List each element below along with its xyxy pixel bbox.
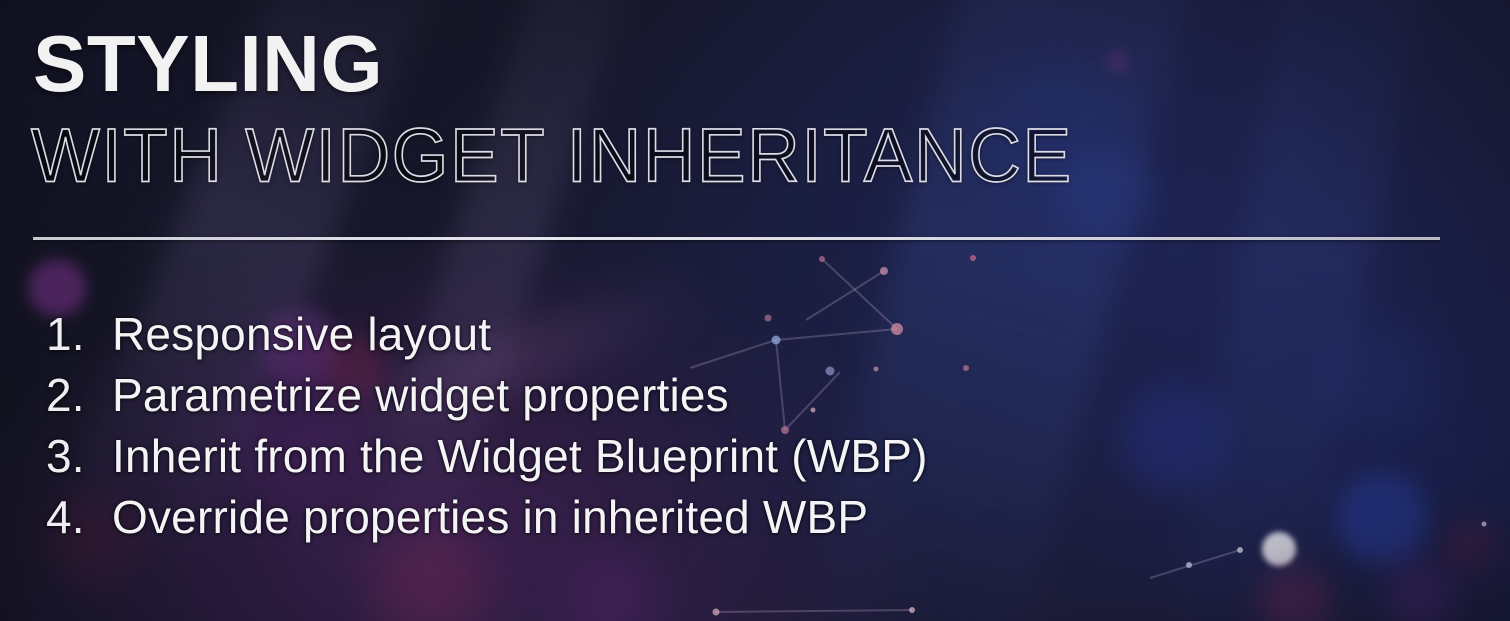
list-item: 3.Inherit from the Widget Blueprint (WBP… xyxy=(46,429,928,490)
agenda-list: 1.Responsive layout2.Parametrize widget … xyxy=(46,307,928,551)
list-item-number: 1. xyxy=(46,307,112,361)
list-item: 1.Responsive layout xyxy=(46,307,928,368)
list-item-number: 2. xyxy=(46,368,112,422)
list-item-label: Override properties in inherited WBP xyxy=(112,490,868,544)
slide-content: STYLING WITH WIDGET INHERITANCE 1.Respon… xyxy=(0,0,1510,621)
list-item-number: 3. xyxy=(46,429,112,483)
list-item-label: Responsive layout xyxy=(112,307,491,361)
title-divider xyxy=(33,237,1440,240)
list-item: 4.Override properties in inherited WBP xyxy=(46,490,928,551)
page-subtitle: WITH WIDGET INHERITANCE xyxy=(31,118,1073,194)
list-item-number: 4. xyxy=(46,490,112,544)
presentation-slide: STYLING WITH WIDGET INHERITANCE 1.Respon… xyxy=(0,0,1510,621)
list-item-label: Inherit from the Widget Blueprint (WBP) xyxy=(112,429,928,483)
page-subtitle-text: WITH WIDGET INHERITANCE xyxy=(31,114,1073,198)
list-item: 2.Parametrize widget properties xyxy=(46,368,928,429)
page-title: STYLING xyxy=(33,24,383,104)
list-item-label: Parametrize widget properties xyxy=(112,368,729,422)
